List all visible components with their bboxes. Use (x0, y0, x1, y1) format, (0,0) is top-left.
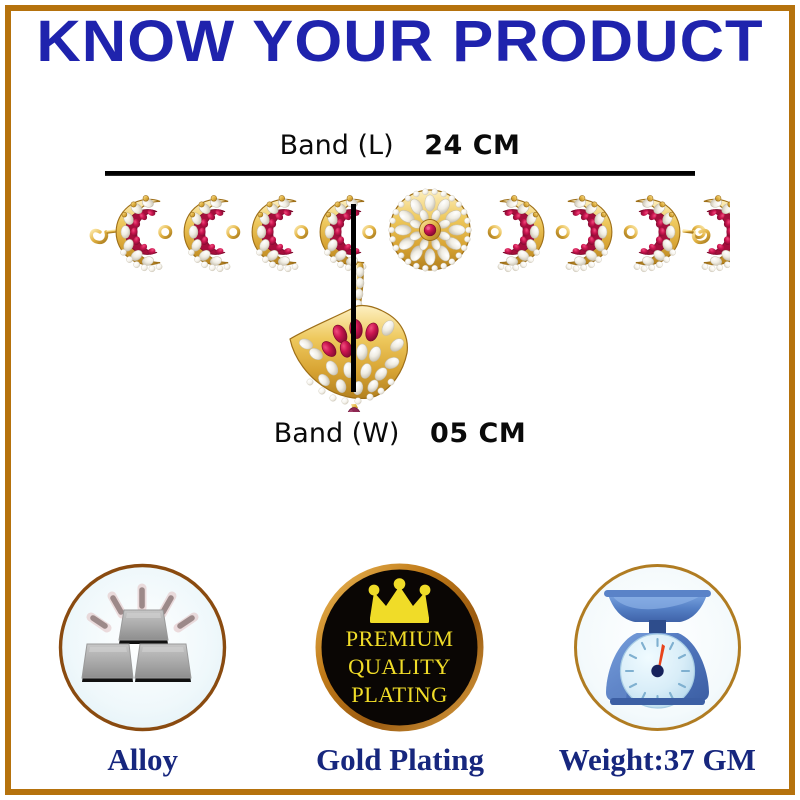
seal-line-1: PREMIUM (346, 626, 454, 651)
page-title: KNOW YOUR PRODUCT (0, 12, 800, 72)
band-length-label: Band (L) 24 CM (0, 131, 800, 161)
clasp-left-hook (91, 231, 116, 243)
feature-alloy: Alloy (27, 560, 259, 777)
band-width-label: Band (W) 05 CM (0, 419, 800, 449)
band-length-name: Band (L) (280, 130, 394, 161)
crescent-link-group-left (116, 195, 375, 271)
seal-line-2: QUALITY (349, 654, 452, 679)
band-length-measure-line (105, 171, 695, 176)
gold-plating-label: Gold Plating (316, 743, 484, 777)
ruby-drop-bead (347, 404, 362, 412)
band-length-value: 24 CM (424, 130, 520, 161)
seal-line-3: PLATING (352, 682, 449, 707)
metal-ingots-icon (55, 560, 230, 735)
weight-icon-wrapper (570, 560, 745, 735)
weight-label: Weight:37 GM (559, 743, 756, 777)
band-width-measure-line (351, 204, 356, 392)
band-width-value: 05 CM (430, 418, 526, 449)
feature-gold-plating: PREMIUM QUALITY PLATING Gold Plating (284, 560, 516, 777)
product-image-kundan-head-band (70, 182, 730, 412)
alloy-icon-wrapper (55, 560, 230, 735)
feature-weight: Weight:37 GM (541, 560, 773, 777)
premium-quality-seal-icon: PREMIUM QUALITY PLATING (312, 560, 487, 735)
pendant-fan (290, 305, 407, 412)
kitchen-scale-icon (570, 560, 745, 735)
alloy-label: Alloy (107, 743, 178, 777)
center-medallion (389, 189, 472, 271)
band-width-name: Band (W) (274, 418, 400, 449)
gold-plating-icon-wrapper: PREMIUM QUALITY PLATING (312, 560, 487, 735)
feature-badge-row: Alloy (14, 560, 786, 790)
infographic-page: KNOW YOUR PRODUCT Band (L) 24 CM (0, 0, 800, 800)
